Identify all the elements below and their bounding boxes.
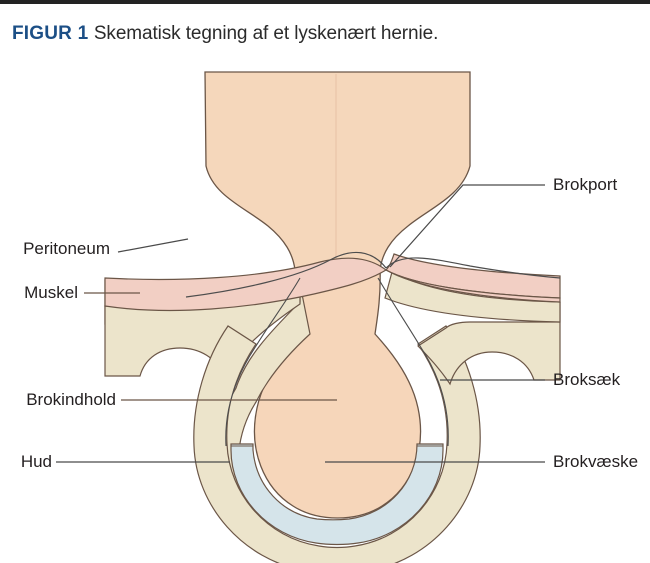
label-brokindhold: Brokindhold xyxy=(14,391,116,409)
label-brokport: Brokport xyxy=(553,176,617,194)
label-brokport-text: Brokport xyxy=(553,175,617,194)
label-brokvaeske: Brokvæske xyxy=(553,453,638,471)
hernia-schematic-diagram: Peritoneum Muskel Brokindhold Hud Brokpo… xyxy=(0,58,650,563)
label-hud: Hud xyxy=(14,453,52,471)
figure-caption-text: Skematisk tegning af et lyskenært hernie… xyxy=(94,23,438,44)
label-muskel-text: Muskel xyxy=(24,283,78,302)
figure-number-label: FIGUR 1 xyxy=(12,23,94,44)
label-brokindhold-text: Brokindhold xyxy=(26,390,116,409)
figure-caption: FIGUR 1 Skematisk tegning af et lyskenær… xyxy=(12,22,438,46)
label-broksaek: Broksæk xyxy=(553,371,620,389)
hernia-diagram-svg xyxy=(0,58,650,563)
label-peritoneum: Peritoneum xyxy=(14,240,110,258)
label-brokvaeske-text: Brokvæske xyxy=(553,452,638,471)
top-rule-divider xyxy=(0,0,650,4)
leader-line-peritoneum xyxy=(118,239,188,252)
abdominal-content-region xyxy=(205,72,470,276)
label-broksaek-text: Broksæk xyxy=(553,370,620,389)
label-muskel: Muskel xyxy=(14,284,78,302)
label-hud-text: Hud xyxy=(21,452,52,471)
figure-container: FIGUR 1 Skematisk tegning af et lyskenær… xyxy=(0,0,650,563)
label-peritoneum-text: Peritoneum xyxy=(23,239,110,258)
